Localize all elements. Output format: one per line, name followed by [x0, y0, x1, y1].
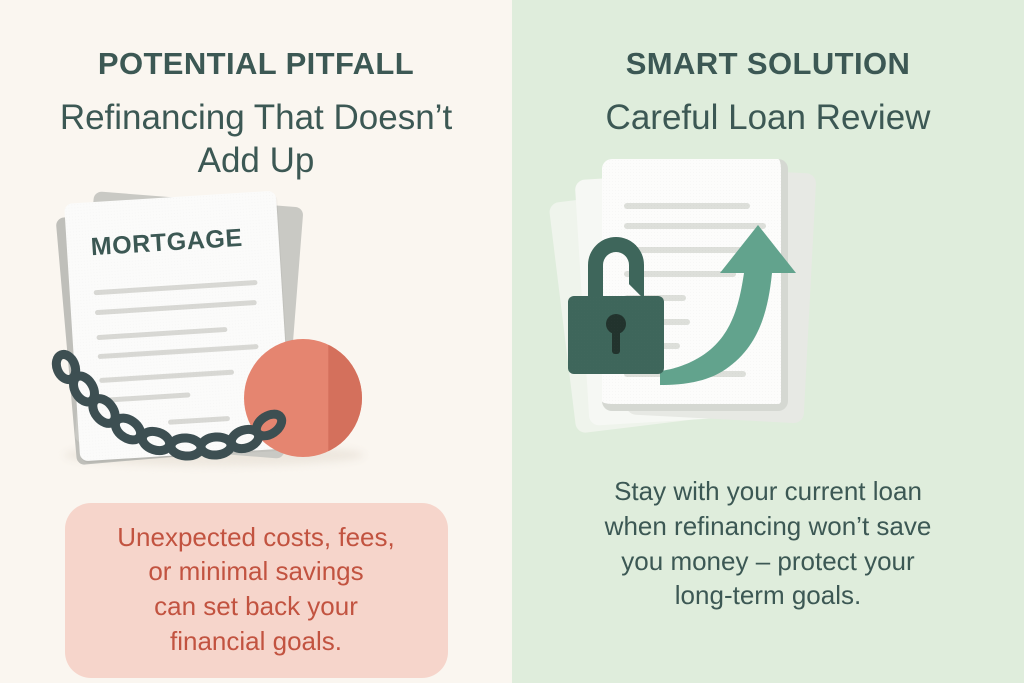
padlock-keyhole: [606, 314, 626, 334]
panel-potential-pitfall: POTENTIAL PITFALL Refinancing That Doesn…: [0, 0, 512, 683]
right-caption: Stay with your current loan when refinan…: [558, 474, 978, 612]
doc-text-line: [624, 203, 750, 209]
right-eyebrow-label: SMART SOLUTION: [626, 48, 911, 79]
left-eyebrow-label: POTENTIAL PITFALL: [98, 48, 414, 79]
upward-arrow-icon: [654, 221, 824, 391]
open-padlock-icon: [568, 237, 664, 377]
right-illustration: [558, 147, 978, 437]
right-headline: Careful Loan Review: [606, 96, 931, 139]
left-headline: Refinancing That Doesn’t Add Up: [46, 96, 466, 183]
panel-smart-solution: SMART SOLUTION Careful Loan Review: [512, 0, 1024, 683]
ball-and-chain-icon: [46, 191, 466, 481]
left-illustration: MORTGAGE: [46, 191, 466, 481]
comparison-infographic: POTENTIAL PITFALL Refinancing That Doesn…: [0, 0, 1024, 683]
padlock-body: [568, 296, 664, 374]
left-caption: Unexpected costs, fees, or minimal savin…: [65, 503, 448, 678]
